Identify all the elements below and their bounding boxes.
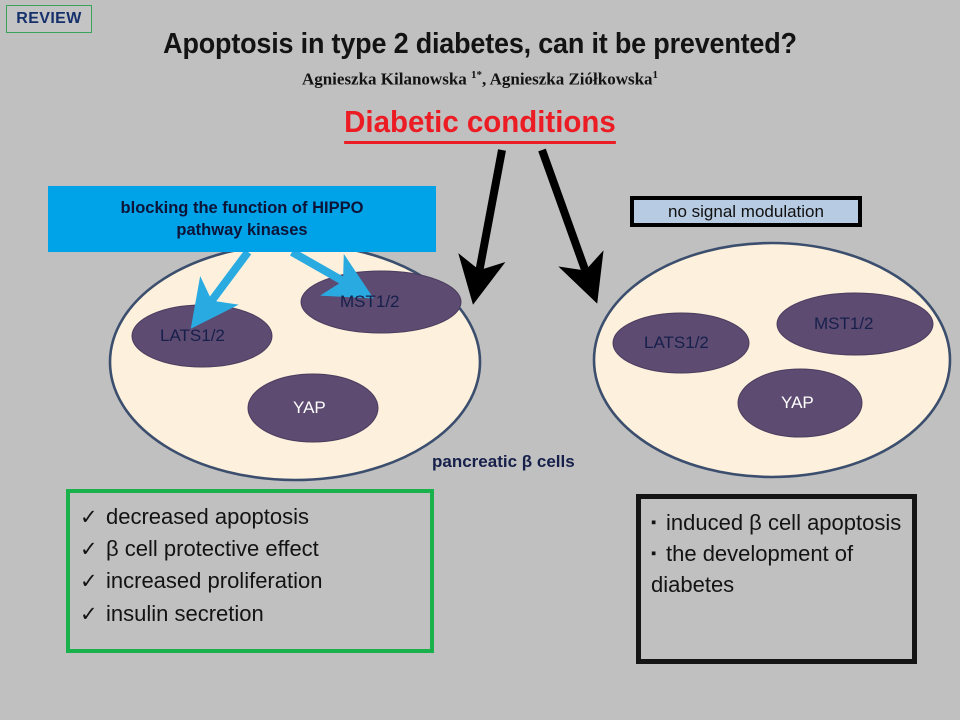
section-heading-label: Diabetic conditions xyxy=(344,104,616,144)
positive-outcomes-box: ✓decreased apoptosis ✓β cell protective … xyxy=(66,489,434,653)
negative-outcomes-box: ▪induced β cell apoptosis ▪the developme… xyxy=(636,494,917,664)
review-badge-label: REVIEW xyxy=(16,10,82,28)
positive-outcomes-list: ✓decreased apoptosis ✓β cell protective … xyxy=(80,501,426,630)
list-item: ✓β cell protective effect xyxy=(80,533,426,565)
right-protein-mst-shape xyxy=(777,293,933,355)
right-protein-lats-shape xyxy=(613,313,749,373)
left-protein-yap-shape xyxy=(248,374,378,442)
square-bullet-icon: ▪ xyxy=(651,543,666,564)
left-protein-mst-shape xyxy=(301,271,461,333)
condition-arrow-left xyxy=(478,150,502,278)
author-two-affiliation: 1 xyxy=(653,69,659,81)
check-icon: ✓ xyxy=(80,567,106,597)
authors-separator: , xyxy=(482,70,490,89)
condition-arrow-right xyxy=(542,150,588,278)
page-title: Apoptosis in type 2 diabetes, can it be … xyxy=(34,28,927,61)
positive-outcome-text: increased proliferation xyxy=(106,568,322,593)
list-item: ✓decreased apoptosis xyxy=(80,501,426,533)
check-icon: ✓ xyxy=(80,600,106,630)
pancreatic-beta-cells-caption: pancreatic β cells xyxy=(432,452,575,472)
right-protein-yap-shape xyxy=(738,369,862,437)
list-item: ✓insulin secretion xyxy=(80,598,426,630)
hippo-blocking-label: blocking the function of HIPPO pathway k… xyxy=(121,197,364,242)
list-item: ▪the development of diabetes xyxy=(651,538,906,600)
no-signal-modulation-label: no signal modulation xyxy=(668,202,824,222)
slide-canvas: REVIEW Apoptosis in type 2 diabetes, can… xyxy=(0,0,960,720)
authors-line: Agnieszka Kilanowska 1*, Agnieszka Ziółk… xyxy=(0,69,960,90)
positive-outcome-text: decreased apoptosis xyxy=(106,504,309,529)
list-item: ▪induced β cell apoptosis xyxy=(651,507,906,538)
author-one-name: Agnieszka Kilanowska xyxy=(302,70,471,89)
negative-outcomes-list: ▪induced β cell apoptosis ▪the developme… xyxy=(651,507,906,601)
negative-outcome-text: induced β cell apoptosis xyxy=(666,510,901,535)
square-bullet-icon: ▪ xyxy=(651,512,666,533)
author-one-affiliation: 1* xyxy=(471,69,482,81)
list-item: ✓increased proliferation xyxy=(80,565,426,597)
hippo-blocking-line-1: blocking the function of HIPPO xyxy=(121,199,364,217)
check-icon: ✓ xyxy=(80,503,106,533)
no-signal-modulation-box: no signal modulation xyxy=(630,196,862,227)
left-protein-lats-shape xyxy=(132,305,272,367)
positive-outcome-text: insulin secretion xyxy=(106,601,264,626)
section-heading: Diabetic conditions xyxy=(0,104,960,144)
negative-outcome-text: the development of diabetes xyxy=(651,541,853,597)
hippo-blocking-line-2: pathway kinases xyxy=(176,221,307,239)
author-two-name: Agnieszka Ziółkowska xyxy=(490,70,653,89)
check-icon: ✓ xyxy=(80,535,106,565)
positive-outcome-text: β cell protective effect xyxy=(106,536,319,561)
hippo-blocking-box: blocking the function of HIPPO pathway k… xyxy=(48,186,436,252)
